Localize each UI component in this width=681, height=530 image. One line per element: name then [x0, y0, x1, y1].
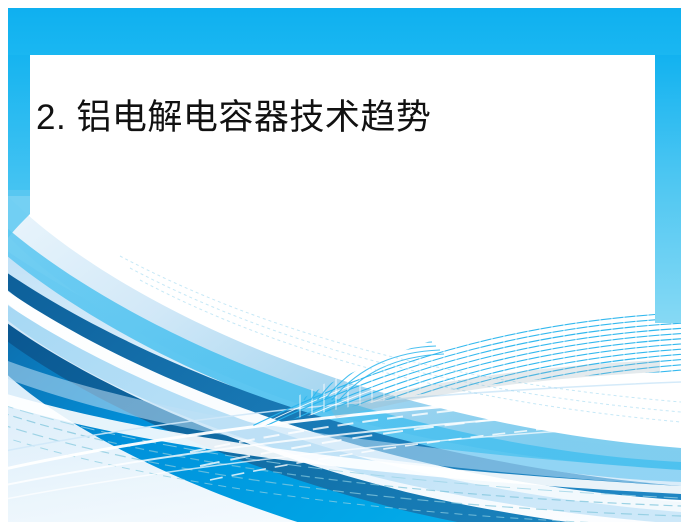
left-margin: [0, 0, 8, 530]
top-margin: [0, 0, 681, 8]
top-cyan-band: [8, 8, 681, 55]
left-cyan-band: [8, 55, 30, 196]
title-block: 2. 铝电解电容器技术趋势: [36, 96, 636, 140]
slide-background-graphic: [0, 0, 681, 530]
slide-canvas: 2. 铝电解电容器技术趋势: [0, 0, 681, 530]
bottom-margin: [0, 522, 681, 530]
page-title: 2. 铝电解电容器技术趋势: [36, 96, 636, 140]
right-cyan-band: [655, 55, 681, 323]
